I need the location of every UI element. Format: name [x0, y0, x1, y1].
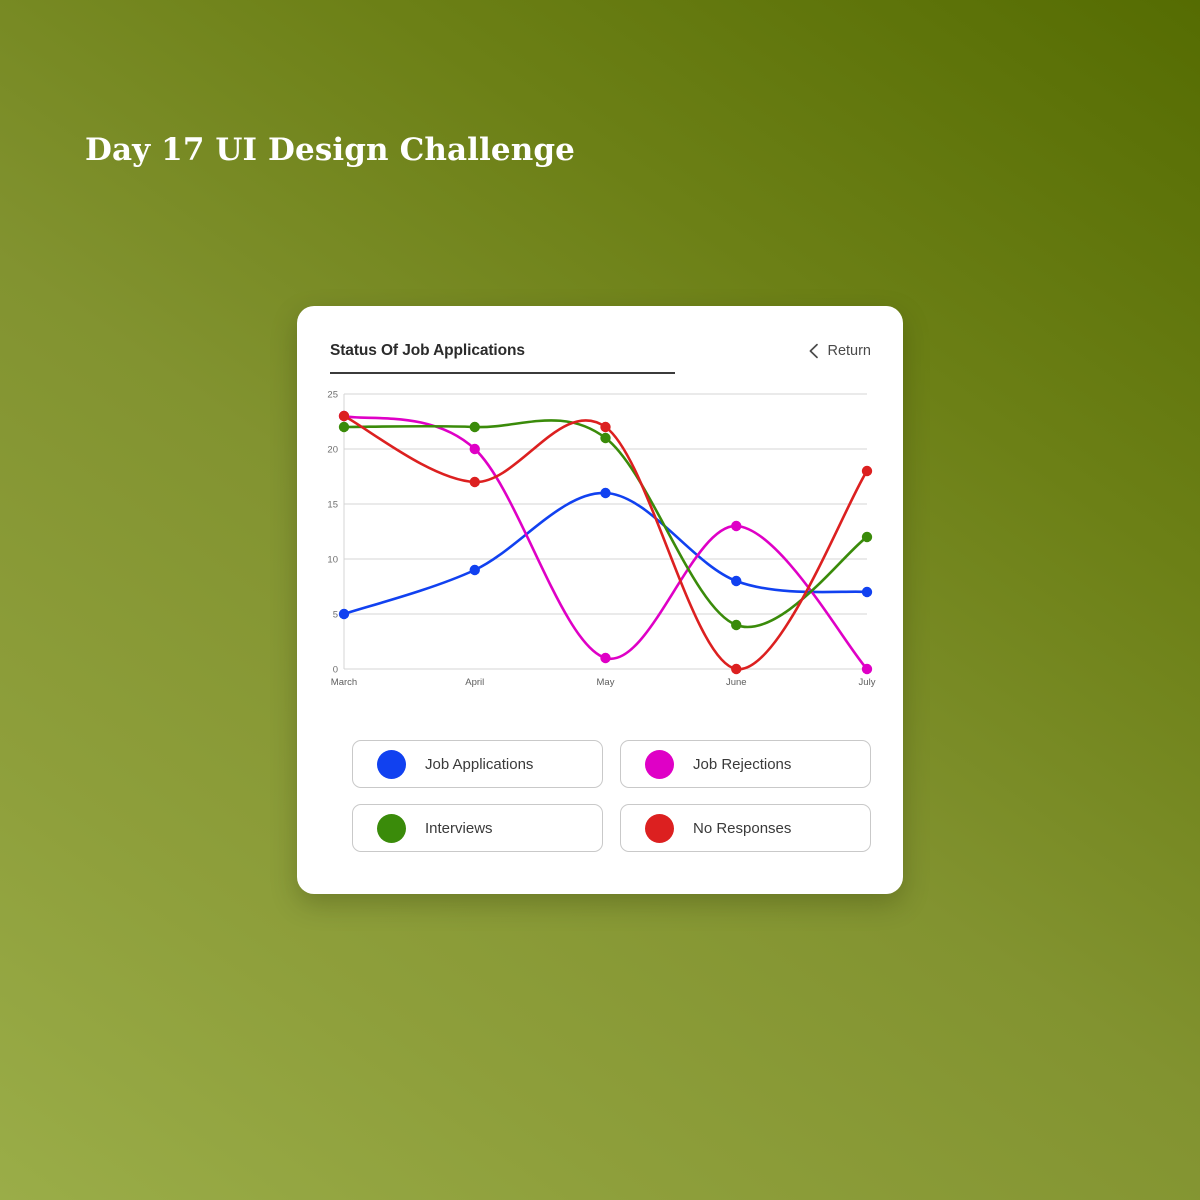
- card-header: Status Of Job Applications Return: [297, 306, 903, 384]
- x-axis-tick-label: June: [726, 677, 747, 688]
- series-data-point[interactable]: [731, 664, 741, 674]
- series-data-point[interactable]: [470, 565, 480, 575]
- series-data-point[interactable]: [470, 477, 480, 487]
- series-data-point[interactable]: [600, 653, 610, 663]
- chevron-left-icon: [808, 343, 819, 359]
- series-line: [344, 416, 867, 669]
- chart-series: [339, 420, 872, 630]
- chart-series: [339, 411, 872, 674]
- series-data-point[interactable]: [600, 488, 610, 498]
- series-data-point[interactable]: [470, 444, 480, 454]
- legend-dot-no-responses: [645, 814, 674, 843]
- x-axis-tick-label: April: [465, 677, 484, 688]
- legend-item-label: No Responses: [693, 820, 791, 837]
- y-axis-tick-label: 10: [327, 555, 338, 566]
- series-data-point[interactable]: [862, 466, 872, 476]
- y-axis-tick-label: 0: [333, 665, 338, 676]
- chart-card: Status Of Job Applications Return 051015…: [297, 306, 903, 894]
- series-data-point[interactable]: [339, 422, 349, 432]
- legend-item-label: Job Applications: [425, 756, 533, 773]
- series-data-point[interactable]: [731, 576, 741, 586]
- chart-legend: Job ApplicationsJob RejectionsInterviews…: [352, 740, 871, 852]
- chart-series: [339, 488, 872, 619]
- series-data-point[interactable]: [862, 532, 872, 542]
- series-line: [344, 420, 867, 627]
- legend-dot-interviews: [377, 814, 406, 843]
- legend-item[interactable]: Job Rejections: [620, 740, 871, 788]
- series-data-point[interactable]: [600, 433, 610, 443]
- title-underline: [330, 372, 675, 374]
- series-line: [344, 493, 867, 614]
- series-data-point[interactable]: [862, 664, 872, 674]
- page-title: Day 17 UI Design Challenge: [85, 132, 575, 168]
- series-line: [344, 416, 867, 669]
- return-button[interactable]: Return: [806, 339, 873, 363]
- return-button-label: Return: [827, 343, 871, 359]
- legend-item-label: Job Rejections: [693, 756, 791, 773]
- series-data-point[interactable]: [339, 411, 349, 421]
- legend-dot-job-applications: [377, 750, 406, 779]
- x-axis-tick-label: July: [859, 677, 876, 688]
- y-axis-tick-label: 15: [327, 500, 338, 511]
- legend-item[interactable]: Job Applications: [352, 740, 603, 788]
- y-axis-tick-label: 20: [327, 445, 338, 456]
- series-data-point[interactable]: [731, 521, 741, 531]
- chart-series: [339, 411, 872, 674]
- series-data-point[interactable]: [731, 620, 741, 630]
- series-data-point[interactable]: [339, 609, 349, 619]
- x-axis-tick-label: May: [597, 677, 615, 688]
- legend-dot-job-rejections: [645, 750, 674, 779]
- legend-item[interactable]: No Responses: [620, 804, 871, 852]
- line-chart: 0510152025MarchAprilMayJuneJuly: [325, 386, 877, 696]
- x-axis-labels: MarchAprilMayJuneJuly: [331, 677, 876, 688]
- series-data-point[interactable]: [470, 422, 480, 432]
- legend-item[interactable]: Interviews: [352, 804, 603, 852]
- chart-title: Status Of Job Applications: [330, 342, 675, 360]
- series-data-point[interactable]: [862, 587, 872, 597]
- chart-svg: 0510152025MarchAprilMayJuneJuly: [325, 386, 877, 696]
- y-axis-tick-label: 5: [333, 610, 338, 621]
- x-axis-tick-label: March: [331, 677, 357, 688]
- series-data-point[interactable]: [600, 422, 610, 432]
- legend-item-label: Interviews: [425, 820, 493, 837]
- chart-title-block: Status Of Job Applications: [330, 342, 675, 374]
- y-axis-tick-label: 25: [327, 390, 338, 401]
